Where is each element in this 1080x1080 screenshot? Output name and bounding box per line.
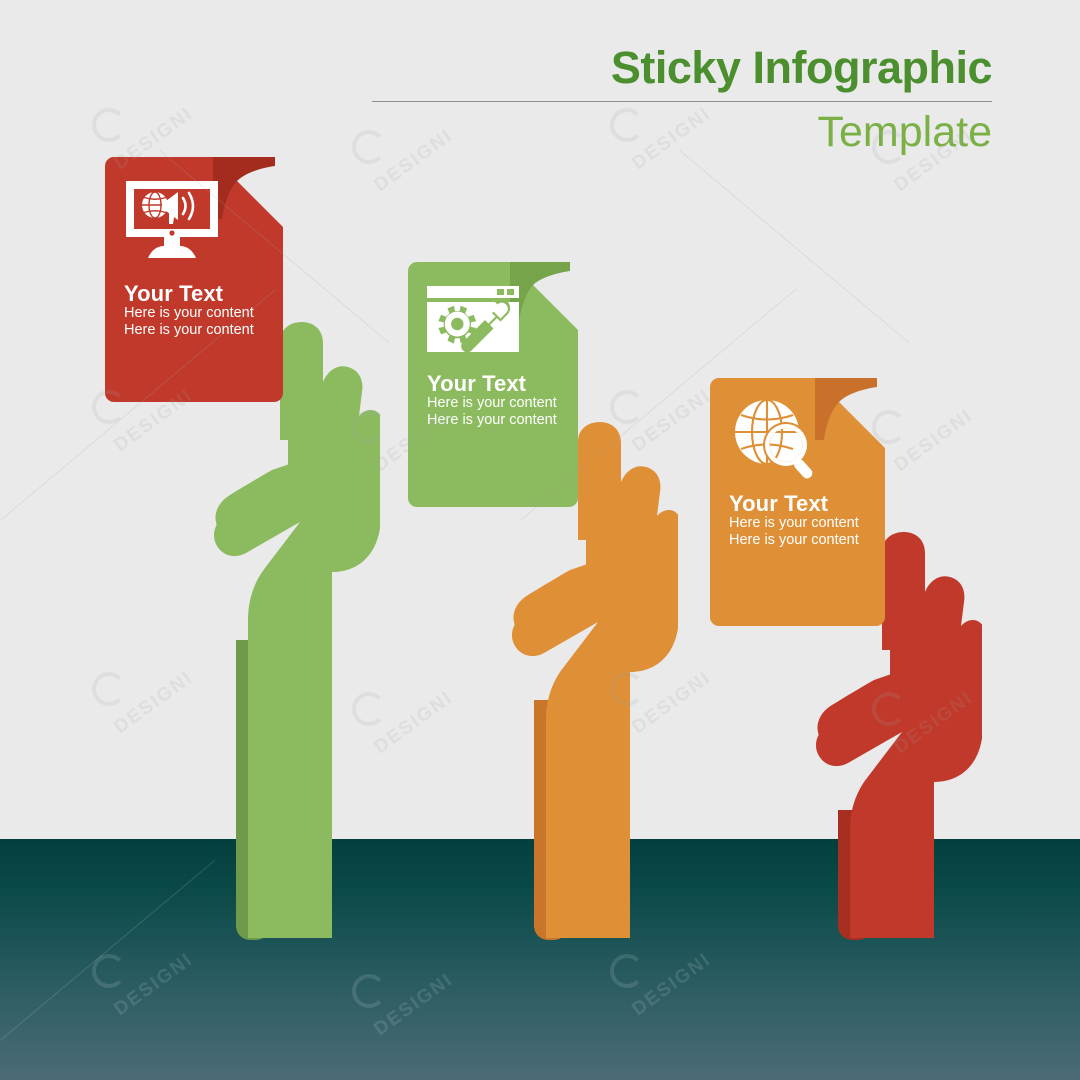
- card-line1-3: Here is your content: [729, 515, 859, 532]
- card-fold-corner-1: [213, 157, 283, 227]
- arm-step-1: [210, 320, 380, 940]
- page-title: Sticky Infographic: [372, 44, 992, 91]
- card-step-2[interactable]: Your Text Here is your content Here is y…: [408, 262, 578, 507]
- card-title-2: Your Text: [427, 373, 526, 395]
- card-title-3: Your Text: [729, 493, 828, 515]
- card-line1-1: Here is your content: [124, 305, 254, 322]
- card-line2-1: Here is your content: [124, 322, 254, 339]
- card-title-1: Your Text: [124, 283, 223, 305]
- globe-search-icon: [727, 396, 827, 481]
- browser-gear-wrench-icon: [425, 284, 521, 354]
- card-line2-2: Here is your content: [427, 412, 557, 429]
- card-step-3[interactable]: Your Text Here is your content Here is y…: [710, 378, 885, 626]
- card-line2-3: Here is your content: [729, 532, 859, 549]
- page-subtitle: Template: [372, 110, 992, 155]
- title-divider: [372, 101, 992, 102]
- card-step-1[interactable]: Your Text Here is your content Here is y…: [105, 157, 283, 402]
- header: Sticky Infographic Template: [372, 44, 992, 155]
- hand-icon-1: [210, 320, 380, 940]
- card-line1-2: Here is your content: [427, 395, 557, 412]
- monitor-megaphone-icon: [122, 179, 222, 263]
- infographic-canvas: Sticky Infographic Template: [0, 0, 1080, 1080]
